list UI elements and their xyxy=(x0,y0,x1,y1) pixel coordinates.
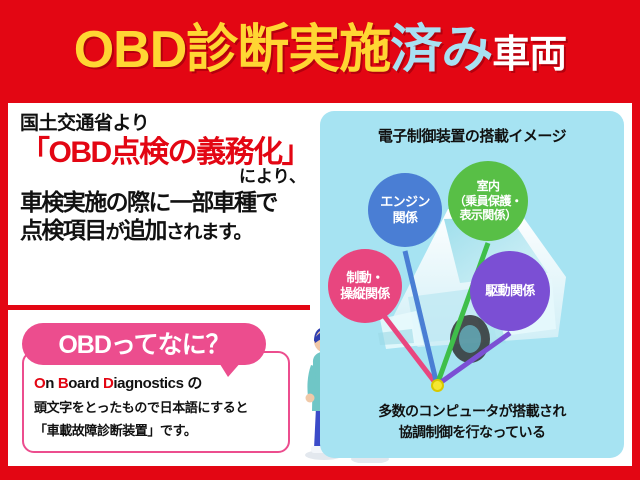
header-title: OBD診断実施済み車両 xyxy=(74,24,567,80)
obd-definition-box: On Board Diagnostics の 頭文字をとったもので日本語にすると… xyxy=(22,351,290,453)
header-segment-yellow: OBD診断実施 xyxy=(74,21,391,79)
obd-word-diagnostics: iagnostics xyxy=(113,375,183,392)
obd-cap-o: O xyxy=(34,375,45,392)
bubble-engine: エンジン 関係 xyxy=(368,173,442,247)
obd-question-bubble: OBDってなに？ xyxy=(22,323,266,365)
obd-banner: OBD診断実施済み車両 国土交通省より 「OBD点検の義務化」 により、 車検実… xyxy=(0,0,640,480)
notice-inspection-items: 点検項目 xyxy=(20,217,106,243)
notice-line-headline: 「OBD点検の義務化」 xyxy=(20,136,308,169)
bubble-cabin: 室内 （乗員保護・ 表示関係） xyxy=(448,161,528,241)
notice-line-body-1: 車検実施の際に一部車種で xyxy=(20,188,308,217)
bubble-cabin-label: 室内 （乗員保護・ 表示関係） xyxy=(454,179,522,223)
body-panel: 国土交通省より 「OBD点検の義務化」 により、 車検実施の際に一部車種で 点検… xyxy=(8,103,632,466)
obd-word-board: oard xyxy=(68,375,103,392)
ecu-hub-dot xyxy=(431,379,444,392)
obd-definition-line-3: 「車載故障診断装置」です。 xyxy=(34,420,278,443)
notice-line-ministry: 国土交通省より xyxy=(20,113,308,135)
header-segment-white: 車両 xyxy=(492,34,566,76)
notice-line-conjunction: により、 xyxy=(20,168,308,186)
banner-header: OBD診断実施済み車両 xyxy=(0,0,640,103)
obd-explanation: OBDってなに？ On Board Diagnostics の 頭文字をとったも… xyxy=(22,323,294,453)
ministry-notice: 国土交通省より 「OBD点検の義務化」 により、 車検実施の際に一部車種で 点検… xyxy=(20,113,308,245)
left-column: 国土交通省より 「OBD点検の義務化」 により、 車検実施の際に一部車種で 点検… xyxy=(8,103,314,466)
notice-particle-ga: が xyxy=(106,222,123,243)
bubble-brake-label: 制動・ 操縦関係 xyxy=(340,270,390,302)
bubble-drive-label: 駆動関係 xyxy=(485,283,535,299)
obd-cap-b: B xyxy=(58,375,68,392)
speech-bubble-tail-icon xyxy=(218,361,242,377)
header-segment-cyan: 済み xyxy=(390,21,492,79)
bubble-drive: 駆動関係 xyxy=(470,251,550,331)
notice-added-word: 追加 xyxy=(123,217,166,243)
notice-added-suffix: されます。 xyxy=(166,222,251,243)
ecu-diagram-caption: 多数のコンピュータが搭載され 協調制御を行なっている xyxy=(320,401,624,442)
obd-cap-d: D xyxy=(103,375,113,392)
notice-line-body-2: 点検項目が追加されます。 xyxy=(20,216,308,245)
obd-question-label: OBDってなに？ xyxy=(58,325,229,363)
ecu-diagram-panel: 電子制御装置の搭載イメージ xyxy=(320,111,624,458)
caption-line-2: 協調制御を行なっている xyxy=(320,422,624,442)
obd-word-on: n xyxy=(45,375,58,392)
section-divider xyxy=(8,305,310,310)
bubble-engine-label: エンジン 関係 xyxy=(380,194,430,226)
caption-line-1: 多数のコンピュータが搭載され xyxy=(320,401,624,421)
bubble-brake: 制動・ 操縦関係 xyxy=(328,249,402,323)
obd-definition-line-2: 頭文字をとったもので日本語にすると xyxy=(34,397,278,420)
obd-particle-no: の xyxy=(184,375,202,392)
